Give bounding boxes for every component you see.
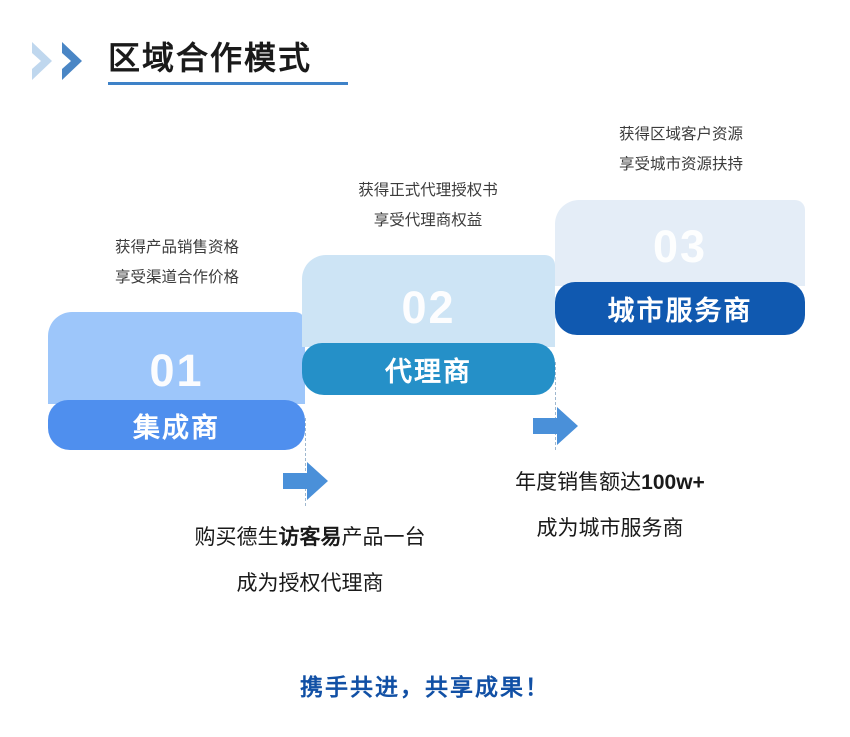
arrow-right-icon-1 [283, 462, 328, 505]
step-name-1: 集成商 [133, 406, 220, 445]
step-caption-3-line1: 获得区域客户资源 [551, 120, 811, 150]
step-caption-2-line1: 获得正式代理授权书 [298, 176, 558, 206]
infographic-canvas: 区域合作模式 获得产品销售资格 享受渠道合作价格 01 集成商 获得正式代理授权… [0, 0, 850, 737]
step-number-3: 03 [555, 224, 805, 269]
step-card-2[interactable]: 02 代理商 [302, 255, 555, 395]
transition-note-2-strong: 100w+ [641, 471, 705, 494]
step-caption-1: 获得产品销售资格 享受渠道合作价格 [47, 233, 307, 293]
transition-note-1-suffix: 产品一台 [342, 526, 426, 549]
page-title: 区域合作模式 [108, 32, 312, 84]
step-caption-1-line2: 享受渠道合作价格 [47, 263, 307, 293]
step-label-band-2: 代理商 [302, 343, 555, 395]
step-number-1: 01 [48, 348, 305, 393]
chevron-right-light-icon [30, 42, 60, 80]
step-label-band-3: 城市服务商 [555, 282, 805, 335]
transition-note-2: 年度销售额达100w+ 成为城市服务商 [445, 460, 775, 552]
step-caption-3-line2: 享受城市资源扶持 [551, 150, 811, 180]
footer-slogan: 携手共进，共享成果！ [0, 668, 850, 702]
transition-note-2-line2: 成为城市服务商 [445, 506, 775, 552]
transition-note-1: 购买德生访客易产品一台 成为授权代理商 [145, 515, 475, 607]
step-caption-3: 获得区域客户资源 享受城市资源扶持 [551, 120, 811, 180]
transition-note-2-prefix: 年度销售额达 [515, 471, 641, 494]
step-name-3: 城市服务商 [608, 289, 753, 328]
step-name-2: 代理商 [385, 350, 472, 389]
step-number-2: 02 [302, 285, 555, 330]
transition-note-1-line2: 成为授权代理商 [145, 561, 475, 607]
step-card-1[interactable]: 01 集成商 [48, 312, 305, 450]
transition-note-1-prefix: 购买德生 [195, 526, 279, 549]
arrow-right-icon-2 [533, 407, 578, 450]
transition-note-2-line1: 年度销售额达100w+ [445, 460, 775, 506]
step-caption-2-line2: 享受代理商权益 [298, 206, 558, 236]
title-underline [108, 82, 348, 85]
transition-note-1-strong: 访客易 [279, 526, 342, 549]
double-chevron-icon [30, 42, 102, 80]
chevron-right-dark-icon [60, 42, 90, 80]
step-caption-1-line1: 获得产品销售资格 [47, 233, 307, 263]
transition-note-1-line1: 购买德生访客易产品一台 [145, 515, 475, 561]
step-label-band-1: 集成商 [48, 400, 305, 450]
step-card-3[interactable]: 03 城市服务商 [555, 200, 805, 335]
step-caption-2: 获得正式代理授权书 享受代理商权益 [298, 176, 558, 236]
